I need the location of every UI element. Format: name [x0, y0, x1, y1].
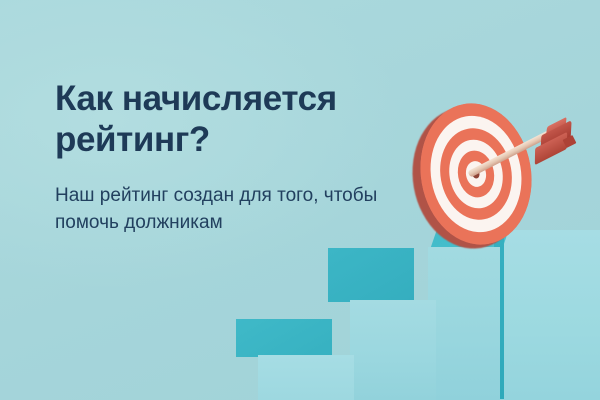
banner-copy: Как начисляется рейтинг? Наш рейтинг соз…: [55, 78, 425, 237]
block-front-face: [350, 300, 436, 400]
banner-subheadline: Наш рейтинг создан для того, чтобы помоч…: [55, 183, 385, 237]
block-top-face: [328, 248, 414, 302]
step-block-high: [428, 247, 500, 400]
block-top-face: [236, 319, 332, 357]
arrow-icon: [469, 121, 575, 201]
block-front-face: [496, 230, 600, 400]
dartboard-target-icon: [409, 99, 537, 251]
step-block-tallest: [496, 230, 600, 400]
block-front-face: [428, 247, 500, 400]
step-block-low: [258, 355, 354, 400]
block-front-face: [258, 355, 354, 400]
step-block-middle: [350, 300, 436, 400]
banner-headline: Как начисляется рейтинг?: [55, 78, 425, 161]
promo-banner: Как начисляется рейтинг? Наш рейтинг соз…: [0, 0, 600, 400]
